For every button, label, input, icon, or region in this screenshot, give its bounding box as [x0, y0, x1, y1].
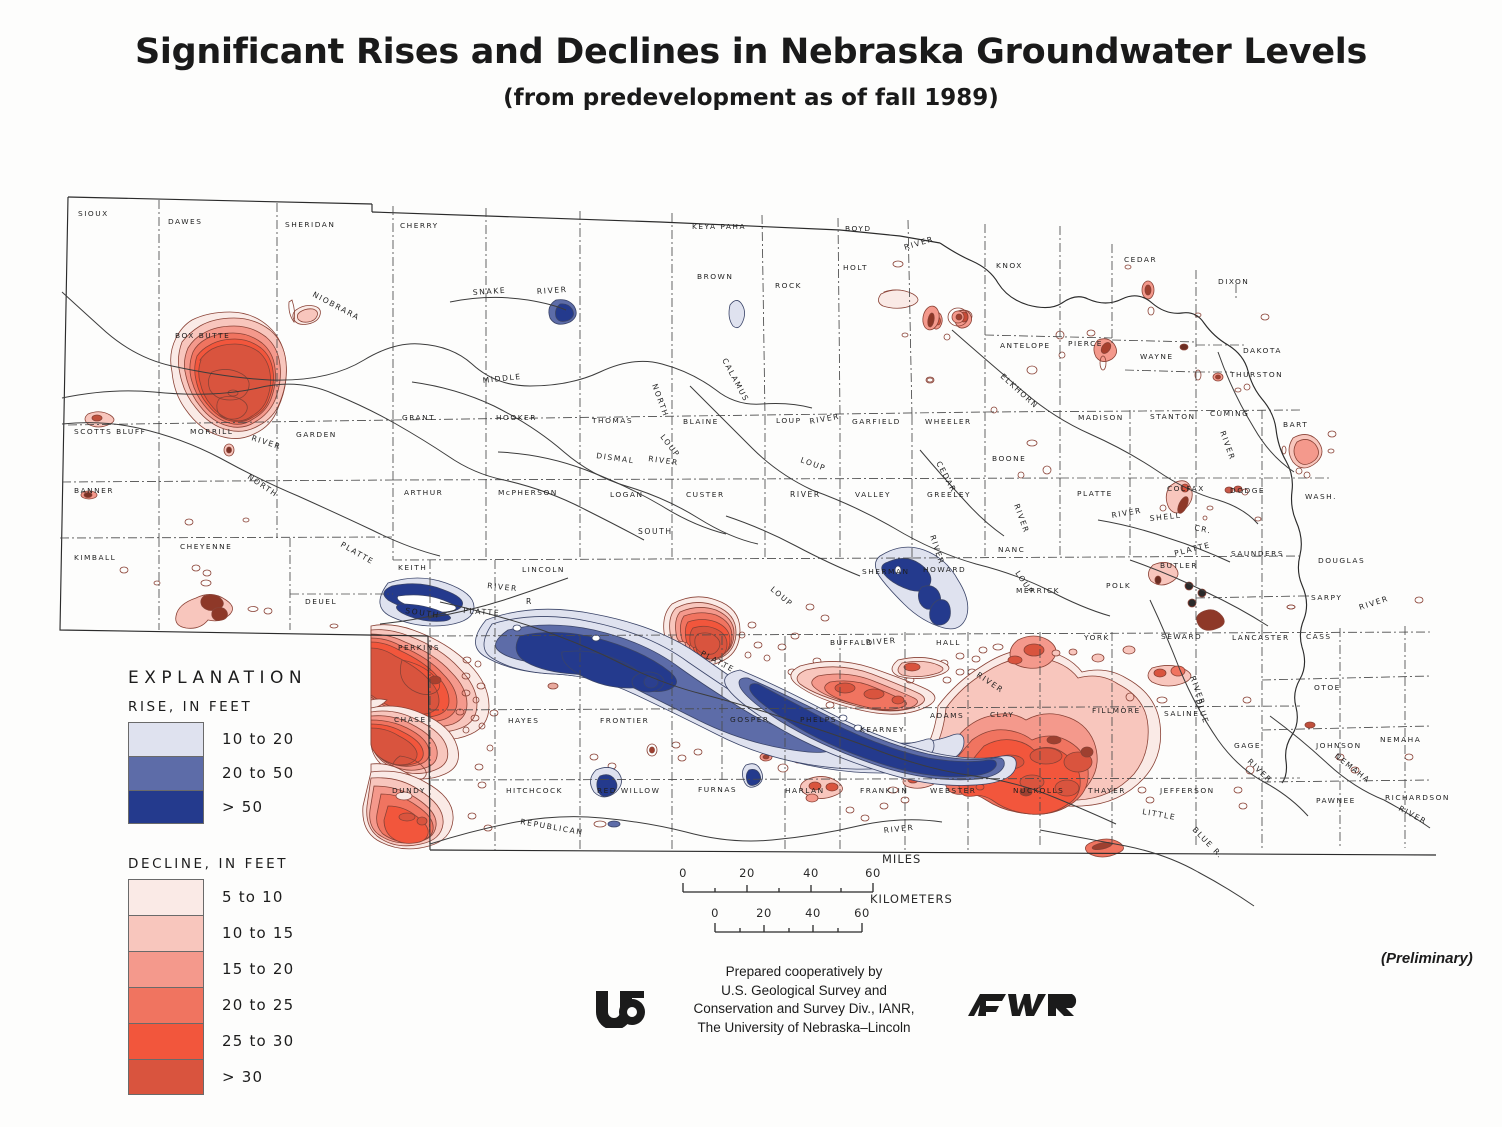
decline-southeast-scatter: [1197, 597, 1423, 809]
county-label: PHELPS: [800, 715, 837, 724]
scale-kilometers: 0204060 KILOMETERS: [712, 906, 962, 937]
decline-swatch-label: 10 to 15: [222, 924, 294, 942]
county-label: HOWARD: [923, 565, 966, 574]
river-label: RIVER: [1012, 503, 1031, 535]
credit-line-3: Conservation and Survey Div., IANR,: [688, 1000, 920, 1019]
county-label: CLAY: [990, 710, 1014, 719]
river-label: RIVER: [1218, 430, 1237, 462]
county-label: DUNDY: [392, 786, 426, 795]
river-label: NORTH: [650, 383, 670, 419]
map-poster: Significant Rises and Declines in Nebras…: [0, 0, 1502, 1127]
county-label: PAWNEE: [1316, 796, 1356, 805]
decline-swatch: [128, 1059, 204, 1095]
county-label: GOSPER: [730, 715, 770, 724]
county-label: FRONTIER: [600, 716, 649, 725]
county-label: DAWES: [168, 217, 202, 226]
river-label: RIVER: [1246, 757, 1274, 785]
county-label: THOMAS: [591, 416, 633, 425]
county-label: BOONE: [992, 454, 1026, 463]
county-label: SEWARD: [1161, 632, 1202, 641]
county-label: CHERRY: [400, 221, 439, 230]
county-label: CASS: [1306, 632, 1332, 641]
river-label: RIVER: [1111, 506, 1143, 520]
county-label: KEARNEY: [860, 725, 905, 734]
county-label: KNOX: [996, 261, 1023, 270]
county-label: LOGAN: [610, 490, 643, 499]
scale-tick-label: 60: [854, 906, 870, 920]
river-label: SOUTH: [638, 527, 673, 536]
county-label: WHEELER: [925, 417, 972, 426]
river-label: LITTLE: [1142, 807, 1177, 822]
county-label: MORRILL: [190, 427, 233, 436]
rise-swatch-label: 20 to 50: [222, 764, 294, 782]
county-label: JEFFERSON: [1159, 786, 1215, 795]
decline-swatch-label: 15 to 20: [222, 960, 294, 978]
river-label: RIVER: [537, 285, 568, 296]
decline-swatch-row: 10 to 15: [128, 915, 323, 951]
river-label: DISMAL: [596, 451, 635, 465]
decline-swatch-label: 20 to 25: [222, 996, 294, 1014]
county-label: GAGE: [1234, 741, 1261, 750]
county-label: DAKOTA: [1243, 346, 1282, 355]
credit-line-4: The University of Nebraska–Lincoln: [688, 1019, 920, 1038]
scale-tick-label: 20: [739, 866, 755, 880]
county-label: KEITH: [398, 563, 427, 572]
river-label: SNAKE: [473, 286, 507, 297]
county-label: JOHNSON: [1315, 741, 1362, 750]
decline-swatch-group: 5 to 1010 to 1515 to 2020 to 2525 to 30>…: [128, 879, 323, 1095]
county-label: FILLMORE: [1092, 706, 1141, 715]
credits-block: Prepared cooperatively by U.S. Geologica…: [688, 963, 920, 1038]
rise-swatch: [128, 722, 204, 756]
county-label: KIMBALL: [74, 553, 116, 562]
county-label: SCOTTS BLUFF: [74, 427, 146, 436]
county-label: HOLT: [843, 263, 868, 272]
river-label: NEMAHA: [1333, 751, 1372, 784]
rise-swatch: [128, 756, 204, 790]
river-label: PLATTE: [1173, 540, 1211, 558]
county-label: WAYNE: [1140, 352, 1174, 361]
county-label: GARFIELD: [852, 417, 901, 426]
county-label: HOOKER: [496, 413, 537, 422]
county-label: FURNAS: [698, 785, 737, 794]
scale-tick-label: 20: [756, 906, 772, 920]
county-label: COLFAX: [1167, 484, 1205, 493]
river-label: PLATTE: [339, 540, 376, 566]
scale-bars: 0204060 MILES 0204060 KILOMETERS: [680, 866, 962, 937]
rise-swatch-row: 10 to 20: [128, 722, 323, 756]
river-label: MIDDLE: [482, 372, 522, 385]
scale-tick-label: 0: [679, 866, 687, 880]
county-label: THAYER: [1087, 786, 1126, 795]
decline-swatch-row: 5 to 10: [128, 879, 323, 915]
county-label: HARLAN: [785, 786, 825, 795]
scale-tick-label: 0: [711, 906, 719, 920]
rise-swatch: [128, 790, 204, 824]
river-label: RIVER: [809, 412, 841, 426]
county-label: NEMAHA: [1380, 735, 1421, 744]
rise-swatch-row: > 50: [128, 790, 323, 824]
scale-unit-label: MILES: [882, 852, 921, 866]
county-label: CHEYENNE: [180, 542, 232, 551]
river-label: RIVER: [487, 581, 519, 593]
county-label: RED WILLOW: [597, 786, 660, 795]
decline-swatch: [128, 1023, 204, 1059]
county-label: LINCOLN: [522, 565, 565, 574]
decline-niobrara: [289, 300, 321, 325]
river-label: REPUBLICAN: [520, 817, 585, 837]
river-label: R: [526, 597, 533, 606]
river-label: RIVER: [866, 636, 897, 647]
rise-sherman-howard: [875, 547, 967, 629]
legend-decline-title: DECLINE, IN FEET: [128, 856, 323, 872]
county-label: SHERMAN: [862, 567, 910, 576]
county-label: KEYA PAHA: [692, 222, 746, 231]
rise-keith: [380, 578, 474, 626]
rise-swatch-group: 10 to 2020 to 50> 50: [128, 722, 323, 824]
scale-tick-label: 40: [803, 866, 819, 880]
county-label: RICHARDSON: [1385, 793, 1450, 802]
river-label: LOUP: [799, 455, 827, 473]
county-label: DODGE: [1230, 486, 1265, 495]
county-label: PIERCE: [1068, 339, 1103, 348]
legend-rise-title: RISE, IN FEET: [128, 699, 323, 715]
county-label: ADAMS: [930, 711, 964, 720]
county-label: CUSTER: [686, 490, 725, 499]
county-label: HITCHCOCK: [506, 786, 563, 795]
river-label: LOUP: [769, 585, 795, 609]
decline-swatch-label: 5 to 10: [222, 888, 284, 906]
rise-brown: [729, 300, 745, 327]
decline-wayne: [1180, 344, 1250, 392]
county-label: SARPY: [1311, 593, 1342, 602]
county-label: DIXON: [1218, 277, 1249, 286]
rise-snake: [549, 300, 576, 325]
county-label: BOYD: [845, 224, 872, 233]
decline-swatch-row: > 30: [128, 1059, 323, 1095]
county-label: CEDAR: [1124, 255, 1157, 264]
legend: EXPLANATION RISE, IN FEET 10 to 2020 to …: [128, 668, 323, 1095]
decline-swatch: [128, 879, 204, 915]
county-label: DEUEL: [305, 597, 337, 606]
county-label: WASH.: [1305, 492, 1337, 501]
county-label: MADISON: [1078, 413, 1124, 422]
county-label: HALL: [936, 638, 961, 647]
decline-cedar-dixon: [1125, 265, 1269, 320]
river-label: RIVER: [250, 433, 282, 451]
river-label: RIVER: [790, 490, 821, 499]
county-label: LOUP: [776, 416, 802, 425]
county-label: DOUGLAS: [1318, 556, 1365, 565]
rise-swatch-label: > 50: [222, 798, 263, 816]
county-label: STANTON: [1150, 412, 1196, 421]
county-label: SHERIDAN: [285, 220, 335, 229]
county-label: BANNER: [74, 486, 114, 495]
county-label: PERKINS: [398, 643, 440, 652]
iwr-logo: [966, 986, 1084, 1031]
rise-furnas: [742, 764, 762, 788]
decline-swatch-label: > 30: [222, 1068, 263, 1086]
county-label: GRANT: [402, 413, 435, 422]
decline-panhandle: [81, 412, 338, 629]
preliminary-note: (Preliminary): [1381, 950, 1473, 967]
county-label: BROWN: [697, 272, 733, 281]
county-label: WEBSTER: [930, 786, 976, 795]
county-label: THURSTON: [1229, 370, 1283, 379]
rise-swatch-label: 10 to 20: [222, 730, 294, 748]
county-label: SALINE: [1164, 709, 1199, 718]
county-label: NANC: [998, 545, 1025, 554]
decline-block: DECLINE, IN FEET 5 to 1010 to 1515 to 20…: [128, 856, 323, 1095]
decline-swatch-row: 25 to 30: [128, 1023, 323, 1059]
county-label: VALLEY: [855, 490, 891, 499]
decline-swatch-label: 25 to 30: [222, 1032, 294, 1050]
county-label: NUCKOLLS: [1013, 786, 1064, 795]
river-label: SHELL: [1149, 511, 1182, 523]
county-label: POLK: [1106, 581, 1131, 590]
county-label: OTOE: [1314, 683, 1341, 692]
scale-tick-label: 60: [865, 866, 881, 880]
decline-swatch-row: 15 to 20: [128, 951, 323, 987]
county-label: BLAINE: [683, 417, 719, 426]
river-label: RIVER: [883, 823, 915, 835]
credit-line-2: U.S. Geological Survey and: [688, 982, 920, 1001]
county-label: SAUNDERS: [1231, 549, 1284, 558]
river-label: RIVER: [1358, 594, 1390, 612]
county-label: FRANKLIN: [860, 786, 908, 795]
county-label: ARTHUR: [404, 488, 443, 497]
scale-tick-label: 40: [805, 906, 821, 920]
decline-swatch: [128, 951, 204, 987]
decline-swatch: [128, 987, 204, 1023]
county-label: LANCASTER: [1232, 633, 1290, 642]
county-label: GARDEN: [296, 430, 337, 439]
county-label: McPHERSON: [498, 488, 558, 497]
county-label: CHASE: [394, 715, 427, 724]
county-label: SIOUX: [78, 209, 109, 218]
scale-unit-label: KILOMETERS: [870, 892, 953, 906]
county-label: PLATTE: [1077, 489, 1113, 498]
county-label: YORK: [1083, 633, 1110, 642]
county-label: ANTELOPE: [1000, 341, 1051, 350]
rise-swatch-row: 20 to 50: [128, 756, 323, 790]
river-label: CR.: [1194, 523, 1213, 535]
county-label: ROCK: [775, 281, 802, 290]
river-label: RIVER: [1397, 804, 1428, 826]
county-label: HAYES: [508, 716, 539, 725]
decline-swatch-row: 20 to 25: [128, 987, 323, 1023]
county-label: BART: [1283, 420, 1308, 429]
county-label: CUMING: [1210, 409, 1249, 418]
county-label: BOX BUTTE: [175, 331, 230, 340]
legend-title: EXPLANATION: [128, 668, 323, 688]
credit-line-1: Prepared cooperatively by: [688, 963, 920, 982]
river-label: ELKHORN: [999, 372, 1041, 411]
county-label: BUTLER: [1160, 561, 1198, 570]
usgs-logo: [592, 988, 648, 1033]
decline-swatch: [128, 915, 204, 951]
